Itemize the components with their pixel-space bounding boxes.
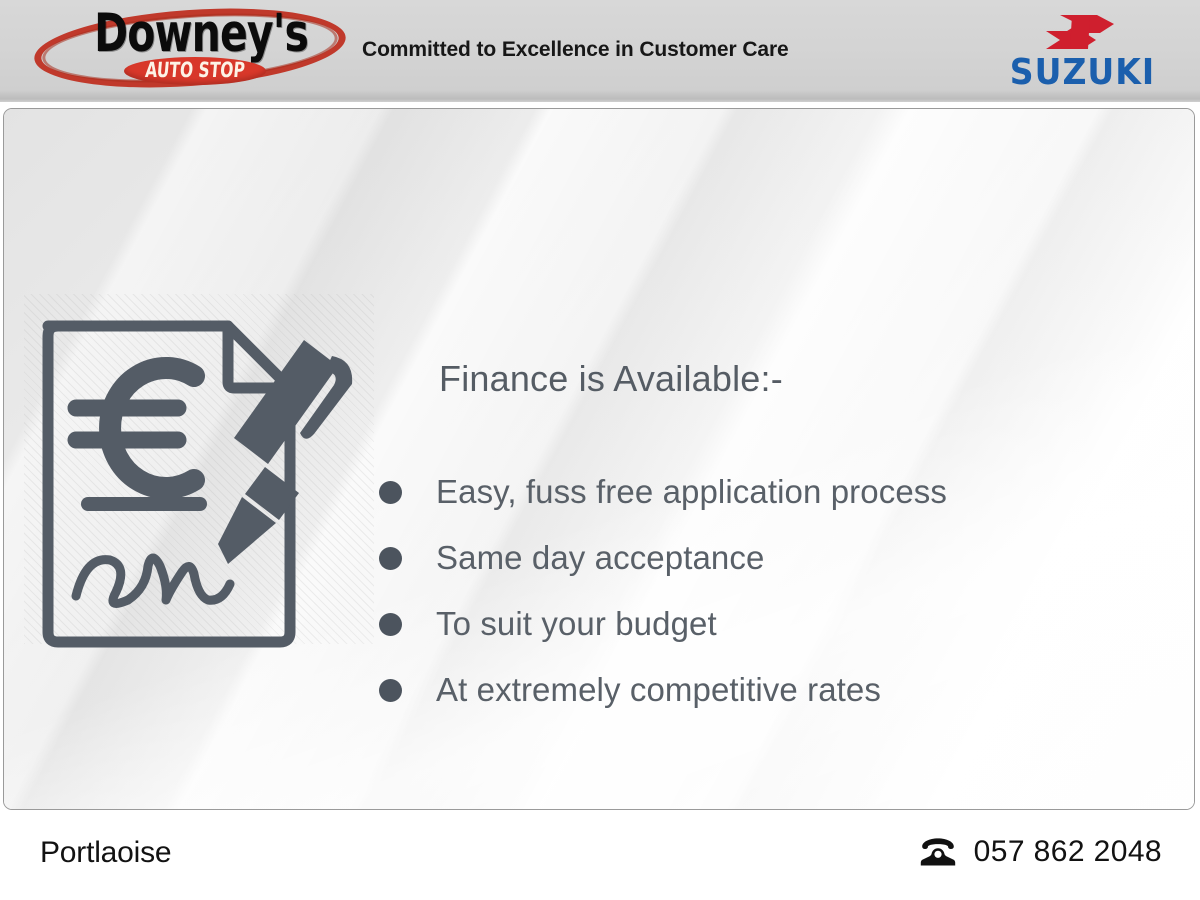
list-item: Easy, fuss free application process: [379, 459, 1169, 525]
bullet-dot-icon: [379, 481, 402, 504]
tagline-text: Committed to Excellence in Customer Care: [362, 38, 789, 62]
list-item: Same day acceptance: [379, 525, 1169, 591]
downeys-auto-stop-logo[interactable]: Downey's AUTO STOP: [30, 2, 350, 100]
bullet-dot-icon: [379, 679, 402, 702]
bullet-label: At extremely competitive rates: [436, 671, 881, 709]
finance-benefits-list: Easy, fuss free application process Same…: [379, 459, 1169, 723]
advert-page: Downey's AUTO STOP Committed to Excellen…: [0, 0, 1200, 900]
logo-wordmark: Downey's: [94, 6, 292, 62]
finance-panel: Finance is Available:- Easy, fuss free a…: [3, 108, 1195, 810]
bullet-dot-icon: [379, 613, 402, 636]
suzuki-wordmark: SUZUKI: [988, 54, 1177, 92]
panel-headline: Finance is Available:-: [439, 358, 783, 400]
suzuki-s-emblem-icon: [1042, 12, 1118, 52]
header-bar: Downey's AUTO STOP Committed to Excellen…: [0, 0, 1200, 102]
footer-phone-number: 057 862 2048: [974, 835, 1162, 869]
bullet-dot-icon: [379, 547, 402, 570]
telephone-icon: [920, 837, 956, 867]
footer-phone-block[interactable]: 057 862 2048: [920, 835, 1162, 869]
logo-sub-pill: AUTO STOP: [124, 57, 266, 85]
suzuki-logo[interactable]: SUZUKI: [990, 12, 1175, 92]
footer-location-label: Portlaoise: [40, 836, 171, 870]
footer-bar: Portlaoise 057 862 2048: [0, 812, 1200, 900]
document-euro-signature-pen-icon: [32, 304, 372, 654]
list-item: At extremely competitive rates: [379, 657, 1169, 723]
bullet-label: Easy, fuss free application process: [436, 473, 947, 511]
logo-sub-label: AUTO STOP: [136, 57, 255, 85]
bullet-label: To suit your budget: [436, 605, 717, 643]
bullet-label: Same day acceptance: [436, 539, 764, 577]
list-item: To suit your budget: [379, 591, 1169, 657]
